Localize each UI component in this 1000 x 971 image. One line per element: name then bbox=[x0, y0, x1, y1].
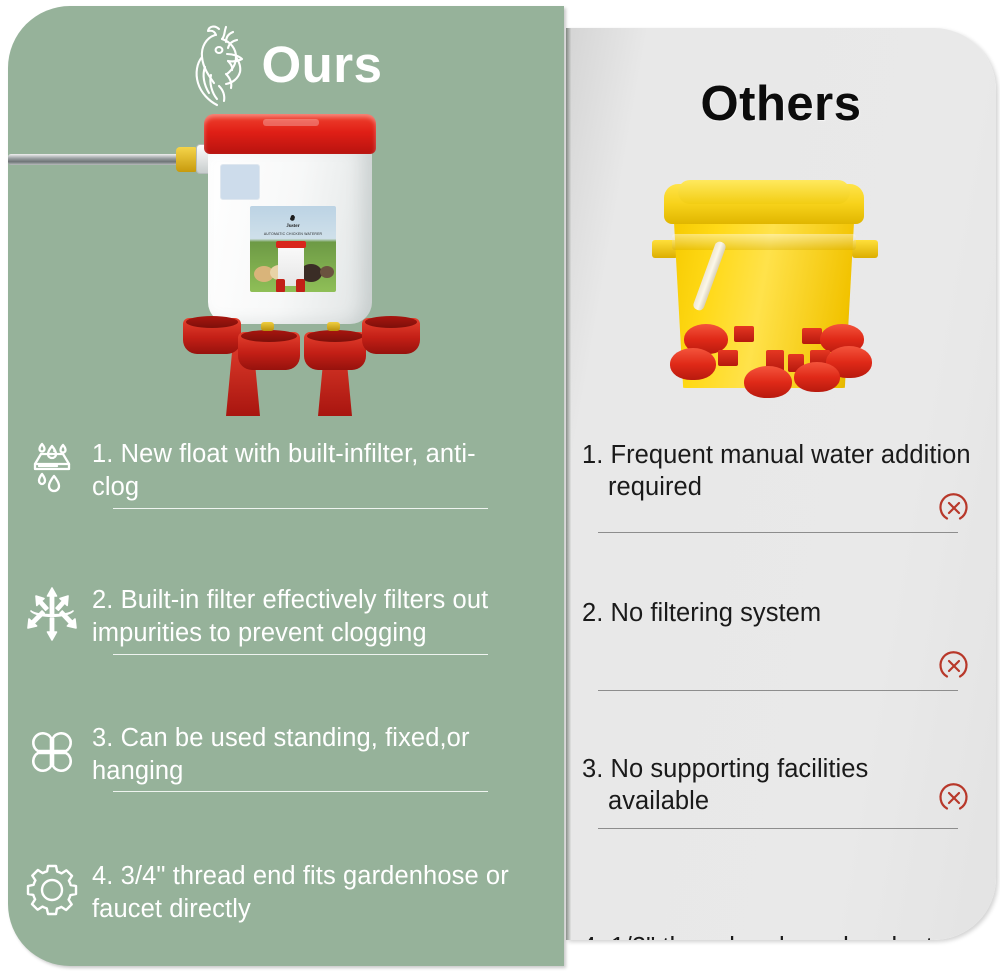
drawback-label: Frequent manual water addition required bbox=[608, 441, 971, 501]
others-header: Others bbox=[566, 76, 996, 132]
drawback-text: 3. No supporting facilities available bbox=[582, 754, 976, 817]
gear-icon bbox=[22, 860, 82, 920]
others-title: Others bbox=[566, 76, 996, 132]
ours-header: Ours bbox=[8, 20, 564, 112]
feature-text: 3. Can be used standing, fixed,or hangin… bbox=[92, 720, 512, 787]
feature-item: 4. 3/4" thread end fits gardenhose or fa… bbox=[8, 858, 564, 966]
feature-label: Can be used standing, fixed,or hanging bbox=[92, 724, 470, 785]
divider bbox=[598, 690, 958, 691]
ours-feature-list: 1. New float with built-infilter, anti-c… bbox=[8, 436, 564, 966]
drawback-number: 3. bbox=[582, 755, 603, 783]
feature-item: 2. Built-in filter effectively filters o… bbox=[8, 582, 564, 690]
bucket-ridge bbox=[672, 234, 856, 250]
label-mini-lid bbox=[276, 241, 306, 248]
rooster-head-icon bbox=[189, 23, 251, 109]
feature-number: 4. bbox=[92, 862, 113, 890]
drawback-number: 1. bbox=[582, 441, 603, 469]
bucket-cup-neck bbox=[802, 328, 822, 344]
feature-label: Built-in filter effectively filters out … bbox=[92, 586, 488, 647]
spray-arrows-icon bbox=[22, 584, 82, 644]
label-subtitle: AUTOMATIC CHICKEN WATERER bbox=[250, 232, 336, 236]
water-nipple bbox=[261, 322, 274, 331]
drawback-text: 2. No filtering system bbox=[582, 598, 976, 630]
label-hen bbox=[320, 266, 334, 278]
divider bbox=[113, 791, 488, 792]
circle-x-icon bbox=[938, 782, 970, 814]
drawback-number: 4. bbox=[582, 933, 603, 940]
water-filter-icon bbox=[22, 438, 82, 498]
water-nipple bbox=[327, 322, 340, 331]
feature-number: 2. bbox=[92, 586, 113, 614]
bucket-drinking-cup bbox=[670, 348, 716, 380]
label-rooster-icon bbox=[288, 214, 298, 224]
drawback-item: 1. Frequent manual water addition requir… bbox=[566, 440, 996, 570]
comparison-infographic: Ours Juster AUTOMATIC CHICKEN WATERER bbox=[0, 0, 1000, 971]
divider bbox=[598, 532, 958, 533]
drawback-item: 3. No supporting facilities available bbox=[566, 754, 996, 884]
others-drawback-list: 1. Frequent manual water addition requir… bbox=[566, 440, 996, 940]
feature-text: 4. 3/4" thread end fits gardenhose or fa… bbox=[92, 858, 512, 925]
circle-x-icon bbox=[938, 650, 970, 682]
feature-text: 2. Built-in filter effectively filters o… bbox=[92, 582, 512, 649]
feature-number: 1. bbox=[92, 440, 113, 468]
drawback-number: 2. bbox=[582, 599, 603, 627]
drawback-label: 1/2" thread end needs adapter for garden… bbox=[608, 933, 956, 940]
drawback-item: 4. 1/2" thread end needs adapter for gar… bbox=[566, 932, 996, 940]
product-label: Juster AUTOMATIC CHICKEN WATERER bbox=[250, 206, 336, 292]
feature-label: New float with built-infilter, anti-clog bbox=[92, 440, 476, 501]
feature-label: 3/4" thread end fits gardenhose or fauce… bbox=[92, 862, 509, 923]
feature-item: 3. Can be used standing, fixed,or hangin… bbox=[8, 720, 564, 828]
circle-x-icon bbox=[938, 492, 970, 524]
feature-text: 1. New float with built-infilter, anti-c… bbox=[92, 436, 512, 503]
label-brand: Juster bbox=[250, 224, 336, 229]
drawback-text: 4. 1/2" thread end needs adapter for gar… bbox=[582, 932, 976, 940]
divider bbox=[113, 654, 488, 655]
label-mini-cup bbox=[296, 279, 305, 292]
bucket-lid-top bbox=[678, 180, 850, 204]
ours-panel: Ours Juster AUTOMATIC CHICKEN WATERER bbox=[8, 6, 564, 966]
bucket-cup-neck bbox=[734, 326, 754, 342]
others-panel: Others bbox=[566, 28, 996, 940]
drawback-text: 1. Frequent manual water addition requir… bbox=[582, 440, 976, 503]
hose bbox=[8, 154, 200, 165]
drinking-cup-rim bbox=[365, 316, 417, 328]
drinking-cup-rim bbox=[186, 316, 238, 328]
divider bbox=[113, 508, 488, 509]
drinking-cup-rim bbox=[307, 330, 363, 342]
ours-product-image: Juster AUTOMATIC CHICKEN WATERER bbox=[8, 106, 564, 431]
others-product-image bbox=[566, 148, 996, 448]
feature-item: 1. New float with built-infilter, anti-c… bbox=[8, 436, 564, 544]
bucket-drinking-cup bbox=[744, 366, 792, 398]
float-valve-window bbox=[220, 164, 260, 200]
hose-nut bbox=[176, 147, 198, 172]
label-mini-cup bbox=[276, 279, 285, 292]
bucket-drinking-cup bbox=[794, 362, 840, 392]
drawback-label: No supporting facilities available bbox=[608, 755, 868, 815]
drinking-cup-rim bbox=[241, 330, 297, 342]
drawback-item: 2. No filtering system bbox=[566, 598, 996, 728]
lid-notch bbox=[263, 119, 319, 126]
divider bbox=[598, 828, 958, 829]
feature-number: 3. bbox=[92, 724, 113, 752]
drawback-label: No filtering system bbox=[611, 599, 822, 627]
clover-petals-icon bbox=[22, 722, 82, 782]
ours-title: Ours bbox=[261, 39, 382, 94]
bucket-cup-neck bbox=[718, 350, 738, 366]
